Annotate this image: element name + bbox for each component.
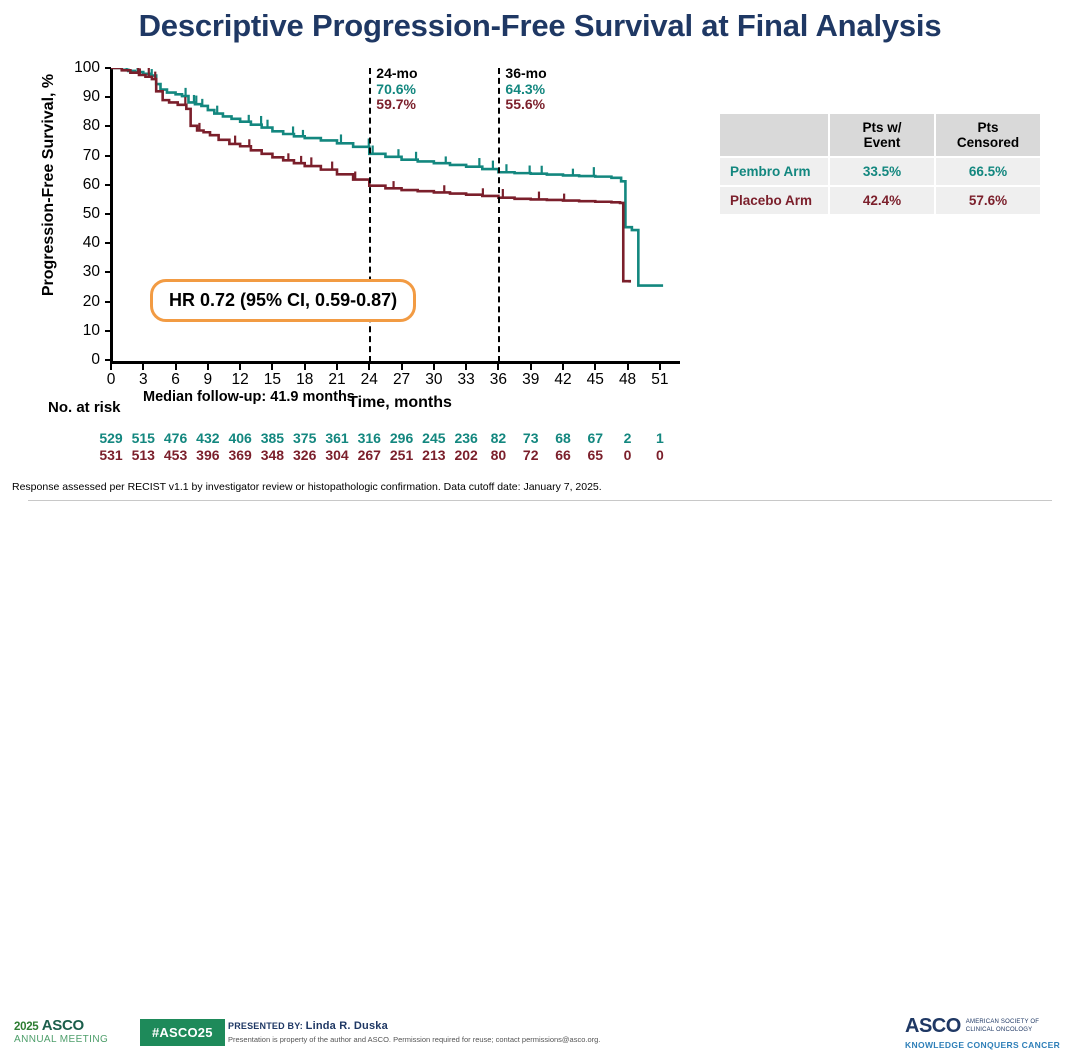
presented-by-line: PRESENTED BY: Linda R. Duska — [228, 1020, 600, 1032]
x-tick-label-51: 51 — [645, 371, 675, 389]
x-tick-mark-15 — [271, 363, 273, 370]
risk-cell: 245 — [417, 430, 451, 446]
risk-cell: 406 — [223, 430, 257, 446]
meeting-brand: ASCO — [42, 1017, 84, 1034]
x-tick-mark-39 — [530, 363, 532, 370]
asco-org-logo: ASCO AMERICAN SOCIETY OF CLINICAL ONCOLO… — [905, 1015, 1070, 1050]
presented-by-label: PRESENTED BY: — [228, 1021, 303, 1031]
risk-cell: 65 — [578, 447, 612, 463]
x-tick-mark-9 — [207, 363, 209, 370]
cell-placebo-pts-censored: 57.6% — [936, 187, 1040, 214]
header-pts-censored-line2: Censored — [957, 135, 1019, 150]
x-tick-mark-30 — [433, 363, 435, 370]
x-tick-label-9: 9 — [193, 371, 223, 389]
x-tick-mark-51 — [659, 363, 661, 370]
row-label-pembro: Pembro Arm — [720, 158, 828, 185]
risk-cell: 67 — [578, 430, 612, 446]
risk-cell: 531 — [94, 447, 128, 463]
x-tick-mark-12 — [239, 363, 241, 370]
asco-meeting-logo-line1: 2025 ASCO — [14, 1017, 134, 1034]
cell-pembro-pts-censored: 66.5% — [936, 158, 1040, 185]
slide-footer: 2025 ASCO ANNUAL MEETING #ASCO25 PRESENT… — [0, 505, 1080, 551]
x-tick-mark-36 — [497, 363, 499, 370]
risk-cell: 453 — [159, 447, 193, 463]
summary-table: Pts w/ Event Pts Censored Pembro Arm 33.… — [718, 112, 1042, 216]
header-corner — [720, 114, 828, 156]
risk-cell: 513 — [126, 447, 160, 463]
page-title: Descriptive Progression-Free Survival at… — [0, 8, 1080, 44]
y-tick-label-60: 60 — [66, 176, 100, 194]
milestone-placebo-value: 55.6% — [505, 97, 546, 113]
footer-divider — [28, 500, 1052, 501]
y-tick-label-30: 30 — [66, 263, 100, 281]
risk-cell: 348 — [255, 447, 289, 463]
row-label-placebo: Placebo Arm — [720, 187, 828, 214]
x-tick-label-42: 42 — [548, 371, 578, 389]
x-tick-label-39: 39 — [516, 371, 546, 389]
meeting-year: 2025 — [14, 1021, 38, 1033]
risk-cell: 515 — [126, 430, 160, 446]
milestone-title: 36-mo — [505, 66, 546, 82]
asco-annual-meeting-logo: 2025 ASCO ANNUAL MEETING — [14, 1017, 134, 1045]
y-tick-label-10: 10 — [66, 322, 100, 340]
x-tick-label-45: 45 — [580, 371, 610, 389]
risk-cell: 267 — [352, 447, 386, 463]
presenter-block: PRESENTED BY: Linda R. Duska Presentatio… — [228, 1020, 600, 1044]
permission-text: Presentation is property of the author a… — [228, 1035, 600, 1044]
org-tagline: KNOWLEDGE CONQUERS CANCER — [905, 1040, 1070, 1050]
milestone-block-36-mo: 36-mo64.3%55.6% — [505, 66, 546, 113]
risk-cell: 432 — [191, 430, 225, 446]
milestone-block-24-mo: 24-mo70.6%59.7% — [376, 66, 417, 113]
milestone-vline-36-mo — [498, 68, 500, 362]
org-subtitle-line1: AMERICAN SOCIETY OF — [966, 1019, 1039, 1025]
no-at-risk-label: No. at risk — [48, 399, 121, 416]
risk-cell: 529 — [94, 430, 128, 446]
x-tick-mark-27 — [401, 363, 403, 370]
risk-cell: 68 — [546, 430, 580, 446]
asco-org-logo-top: ASCO AMERICAN SOCIETY OF CLINICAL ONCOLO… — [905, 1015, 1070, 1038]
x-tick-label-24: 24 — [354, 371, 384, 389]
x-tick-label-0: 0 — [96, 371, 126, 389]
kaplan-meier-chart: Progression-Free Survival, % 01020304050… — [0, 58, 720, 398]
hazard-ratio-callout: HR 0.72 (95% CI, 0.59-0.87) — [150, 279, 416, 322]
org-subtitle: AMERICAN SOCIETY OF CLINICAL ONCOLOGY — [966, 1019, 1039, 1034]
table-row: Pembro Arm 33.5% 66.5% — [720, 158, 1040, 185]
x-tick-mark-24 — [368, 363, 370, 370]
y-tick-label-50: 50 — [66, 205, 100, 223]
y-tick-label-90: 90 — [66, 88, 100, 106]
risk-cell: 375 — [288, 430, 322, 446]
risk-cell: 369 — [223, 447, 257, 463]
risk-cell: 251 — [385, 447, 419, 463]
milestone-placebo-value: 59.7% — [376, 97, 417, 113]
x-tick-label-33: 33 — [451, 371, 481, 389]
risk-cell: 0 — [643, 447, 677, 463]
x-tick-label-21: 21 — [322, 371, 352, 389]
risk-cell: 80 — [481, 447, 515, 463]
x-tick-mark-45 — [594, 363, 596, 370]
header-pts-censored: Pts Censored — [936, 114, 1040, 156]
x-tick-mark-6 — [175, 363, 177, 370]
risk-cell: 73 — [514, 430, 548, 446]
risk-cell: 326 — [288, 447, 322, 463]
hashtag-badge: #ASCO25 — [140, 1019, 225, 1046]
risk-cell: 202 — [449, 447, 483, 463]
risk-cell: 236 — [449, 430, 483, 446]
risk-cell: 82 — [481, 430, 515, 446]
risk-cell: 476 — [159, 430, 193, 446]
x-tick-label-36: 36 — [483, 371, 513, 389]
milestone-pembro-value: 64.3% — [505, 82, 546, 98]
risk-cell: 2 — [611, 430, 645, 446]
y-tick-label-20: 20 — [66, 293, 100, 311]
cell-pembro-pts-with-event: 33.5% — [830, 158, 934, 185]
x-tick-label-27: 27 — [387, 371, 417, 389]
milestone-pembro-value: 70.6% — [376, 82, 417, 98]
header-pts-with-event: Pts w/ Event — [830, 114, 934, 156]
presenter-name: Linda R. Duska — [306, 1020, 388, 1032]
risk-cell: 396 — [191, 447, 225, 463]
risk-cell: 304 — [320, 447, 354, 463]
header-pts-censored-line1: Pts — [977, 120, 998, 135]
header-pts-with-event-line1: Pts w/ — [862, 120, 901, 135]
footnote: Response assessed per RECIST v1.1 by inv… — [12, 481, 602, 493]
x-tick-label-3: 3 — [128, 371, 158, 389]
y-tick-label-0: 0 — [66, 351, 100, 369]
x-tick-mark-48 — [627, 363, 629, 370]
x-tick-mark-42 — [562, 363, 564, 370]
x-tick-label-15: 15 — [257, 371, 287, 389]
y-tick-label-100: 100 — [66, 59, 100, 77]
risk-row-placebo: 5315134533963693483263042672512132028072… — [0, 447, 720, 464]
x-tick-label-12: 12 — [225, 371, 255, 389]
x-tick-label-6: 6 — [161, 371, 191, 389]
median-followup-label: Median follow-up: 41.9 months — [143, 389, 355, 405]
risk-cell: 385 — [255, 430, 289, 446]
y-tick-label-80: 80 — [66, 117, 100, 135]
org-subtitle-line2: CLINICAL ONCOLOGY — [966, 1027, 1033, 1033]
y-tick-label-70: 70 — [66, 147, 100, 165]
x-tick-label-48: 48 — [613, 371, 643, 389]
x-tick-mark-18 — [304, 363, 306, 370]
risk-cell: 66 — [546, 447, 580, 463]
x-tick-mark-21 — [336, 363, 338, 370]
cell-placebo-pts-with-event: 42.4% — [830, 187, 934, 214]
table-row: Placebo Arm 42.4% 57.6% — [720, 187, 1040, 214]
meeting-subtitle: ANNUAL MEETING — [14, 1034, 134, 1045]
x-tick-mark-3 — [142, 363, 144, 370]
risk-cell: 0 — [611, 447, 645, 463]
no-at-risk-table: 5295154764324063853753613162962452368273… — [0, 430, 720, 464]
risk-cell: 213 — [417, 447, 451, 463]
org-brand: ASCO — [905, 1015, 961, 1038]
x-tick-label-30: 30 — [419, 371, 449, 389]
milestone-title: 24-mo — [376, 66, 417, 82]
table-header-row: Pts w/ Event Pts Censored — [720, 114, 1040, 156]
risk-row-pembro: 5295154764324063853753613162962452368273… — [0, 430, 720, 447]
risk-cell: 316 — [352, 430, 386, 446]
risk-cell: 361 — [320, 430, 354, 446]
x-tick-label-18: 18 — [290, 371, 320, 389]
risk-cell: 1 — [643, 430, 677, 446]
y-axis-title: Progression-Free Survival, % — [40, 40, 58, 330]
y-tick-label-40: 40 — [66, 234, 100, 252]
x-tick-mark-0 — [110, 363, 112, 370]
header-pts-with-event-line2: Event — [864, 135, 901, 150]
x-tick-mark-33 — [465, 363, 467, 370]
risk-cell: 296 — [385, 430, 419, 446]
risk-cell: 72 — [514, 447, 548, 463]
